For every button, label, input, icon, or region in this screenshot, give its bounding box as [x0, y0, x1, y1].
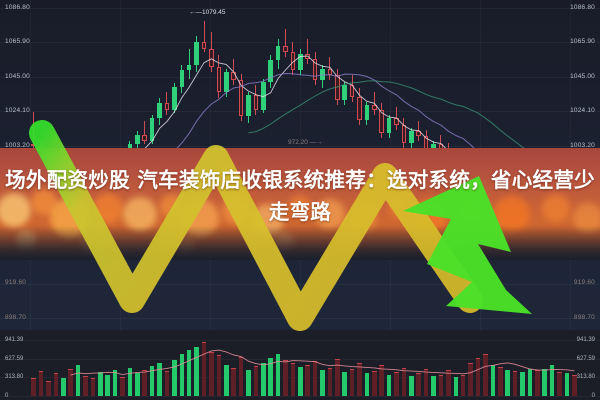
promo-headline: 场外配资炒股 汽车装饰店收银系统推荐：选对系统，省心经营少走弯路: [0, 164, 600, 228]
stock-chart-promo-image: 1086.801065.901045.001024.101003.20982.3…: [0, 0, 600, 400]
